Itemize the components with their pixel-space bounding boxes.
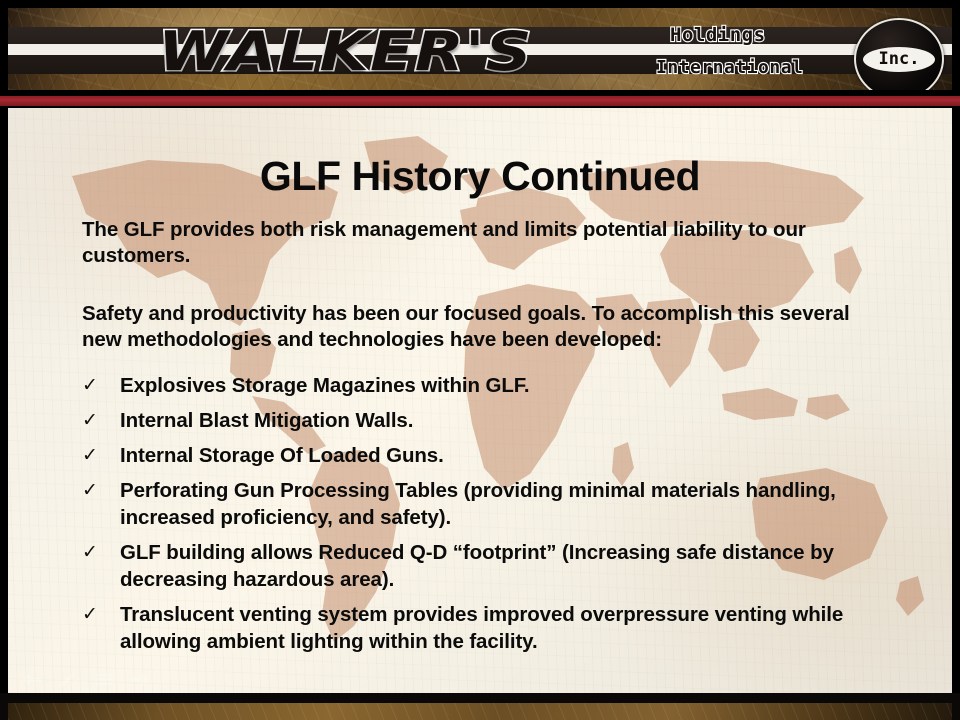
slide-content-area: GLF History Continued The GLF provides b… [8, 108, 952, 693]
menu-icon[interactable] [94, 671, 114, 687]
bottom-brown-strip [8, 703, 952, 720]
checkmark-icon: ✓ [82, 442, 120, 468]
feature-bullet-list: ✓ Explosives Storage Magazines within GL… [82, 372, 900, 663]
brand-subtitle-holdings: Holdings [670, 24, 766, 46]
list-item: ✓ Internal Blast Mitigation Walls. [82, 407, 900, 434]
intro-paragraph-1: The GLF provides both risk management an… [82, 217, 872, 270]
bottom-strip-texture [8, 703, 952, 720]
inc-badge-icon: Inc. [854, 18, 944, 90]
checkmark-icon: ✓ [82, 601, 120, 627]
list-item: ✓ Perforating Gun Processing Tables (pro… [82, 477, 900, 531]
slideshow-nav-controls[interactable] [22, 671, 150, 687]
checkmark-icon: ✓ [82, 539, 120, 565]
checkmark-icon: ✓ [82, 407, 120, 433]
brand-wordmark: WALKER'S [158, 21, 533, 81]
list-item: ✓ Translucent venting system provides im… [82, 601, 900, 655]
list-item-label: Translucent venting system provides impr… [120, 601, 900, 655]
checkmark-icon: ✓ [82, 372, 120, 398]
list-item-label: Explosives Storage Magazines within GLF. [120, 372, 900, 399]
list-item-label: Internal Storage Of Loaded Guns. [120, 442, 900, 469]
list-item: ✓ Internal Storage Of Loaded Guns. [82, 442, 900, 469]
list-item-label: Perforating Gun Processing Tables (provi… [120, 477, 900, 531]
inc-badge-label: Inc. [879, 51, 920, 68]
list-item: ✓ Explosives Storage Magazines within GL… [82, 372, 900, 399]
intro-paragraph-2: Safety and productivity has been our foc… [82, 301, 872, 354]
presentation-slide: WALKER'S Holdings International Inc. [0, 0, 960, 720]
header-red-divider [0, 96, 960, 106]
list-item-label: Internal Blast Mitigation Walls. [120, 407, 900, 434]
brand-subtitle-international: International [656, 57, 803, 78]
header-banner: WALKER'S Holdings International Inc. [8, 8, 952, 90]
previous-slide-icon[interactable] [22, 671, 42, 687]
list-item: ✓ GLF building allows Reduced Q-D “footp… [82, 539, 900, 593]
checkmark-icon: ✓ [82, 477, 120, 503]
slide-title: GLF History Continued [8, 153, 952, 200]
next-slide-icon[interactable] [130, 671, 150, 687]
list-item-label: GLF building allows Reduced Q-D “footpri… [120, 539, 900, 593]
inc-badge-ellipse: Inc. [863, 47, 935, 72]
brand-subtitle-group: Holdings International [656, 24, 856, 82]
pen-icon[interactable] [58, 671, 78, 687]
